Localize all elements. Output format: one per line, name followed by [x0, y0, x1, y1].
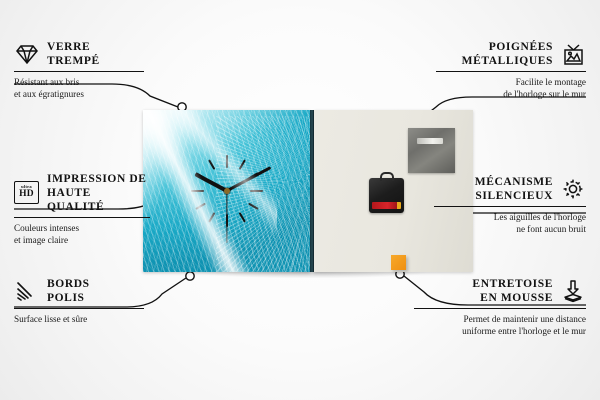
- callout-print-title-1: IMPRESSION DE: [47, 173, 147, 185]
- clock-tick: [195, 172, 258, 210]
- callout-glass-title-2: TREMPÉ: [47, 55, 100, 67]
- callout-edges-title-2: POLIS: [47, 292, 85, 304]
- callout-handles-title-2: MÉTALLIQUES: [462, 55, 553, 67]
- callout-handles: POIGNÉES MÉTALLIQUES Facilite le montage…: [436, 40, 586, 101]
- clock-movement: [369, 178, 404, 213]
- callout-glass-sub-2: et aux égratignures: [14, 89, 84, 99]
- clock-second-hand: [226, 191, 227, 243]
- callout-mechanism-sub-1: Les aiguilles de l'horloge: [494, 212, 586, 222]
- clock-center-hub: [224, 188, 230, 194]
- clock-minute-hand: [226, 166, 272, 192]
- callout-print-sub-2: et image claire: [14, 235, 68, 245]
- infographic-canvas: VERRE TREMPÉ Résistant aux bris et aux é…: [0, 0, 600, 400]
- clock-tick: [195, 172, 258, 210]
- callout-mechanism-title-1: MÉCANISME: [475, 176, 553, 188]
- clock-tick: [191, 190, 263, 192]
- callout-spacer-title-1: ENTRETOISE: [472, 278, 553, 290]
- callout-mechanism-title-2: SILENCIEUX: [475, 190, 553, 202]
- callout-spacer-sub-1: Permet de maintenir une distance: [464, 314, 586, 324]
- clock-tick: [208, 159, 246, 222]
- clock-tick: [208, 159, 246, 222]
- ultra-hd-icon-main: HD: [19, 190, 34, 200]
- callout-rule: [14, 308, 144, 309]
- picture-frame-hanger-icon: [560, 42, 586, 66]
- hanger-slot: [417, 138, 443, 144]
- clock-tick: [195, 172, 258, 210]
- callout-rule: [434, 206, 586, 207]
- callout-edges-sub-1: Surface lisse et sûre: [14, 314, 87, 324]
- arrow-down-stack-icon: [560, 279, 586, 303]
- callout-handles-sub-1: Facilite le montage: [516, 77, 586, 87]
- callout-mechanism: MÉCANISME SILENCIEUX Les aiguilles de l'…: [434, 175, 586, 236]
- callout-glass-sub-1: Résistant aux bris: [14, 77, 79, 87]
- callout-rule: [14, 71, 144, 72]
- callout-print-title-2: HAUTE QUALITÉ: [47, 187, 104, 213]
- clock-tick: [191, 190, 263, 192]
- callout-glass: VERRE TREMPÉ Résistant aux bris et aux é…: [14, 40, 144, 101]
- callout-glass-title-1: VERRE: [47, 41, 90, 53]
- clock-tick: [226, 155, 228, 227]
- clock-hour-hand: [194, 172, 228, 192]
- polished-edges-icon: [14, 279, 40, 303]
- clock-tick: [208, 159, 246, 222]
- callout-edges: BORDS POLIS Surface lisse et sûre: [14, 277, 144, 325]
- movement-hanger-loop: [380, 172, 394, 181]
- foam-spacer: [391, 255, 406, 270]
- clock-tick: [195, 172, 258, 210]
- clock-tick: [226, 155, 228, 227]
- callout-print: ultra HD IMPRESSION DE HAUTE QUALITÉ Cou…: [14, 172, 150, 247]
- callout-spacer: ENTRETOISE EN MOUSSE Permet de maintenir…: [414, 277, 586, 338]
- callout-rule: [436, 71, 586, 72]
- battery: [372, 202, 400, 209]
- callout-mechanism-sub-2: ne font aucun bruit: [516, 224, 586, 234]
- callout-print-sub-1: Couleurs intenses: [14, 223, 79, 233]
- callout-edges-title-1: BORDS: [47, 278, 90, 290]
- callout-handles-title-1: POIGNÉES: [489, 41, 553, 53]
- gear-icon: [560, 177, 586, 201]
- callout-handles-sub-2: de l'horloge sur le mur: [503, 89, 586, 99]
- clock-tick: [208, 159, 246, 222]
- diamond-icon: [14, 42, 40, 66]
- callout-rule: [414, 308, 586, 309]
- callout-spacer-sub-2: uniforme entre l'horloge et le mur: [462, 326, 586, 336]
- feather-texture: [216, 116, 310, 272]
- metal-hanger-plate: [408, 128, 455, 173]
- product-image: [143, 110, 473, 272]
- ultra-hd-icon: ultra HD: [14, 181, 40, 205]
- clock-face-panel: [143, 110, 310, 272]
- callout-spacer-title-2: EN MOUSSE: [480, 292, 553, 304]
- callout-rule: [14, 217, 150, 218]
